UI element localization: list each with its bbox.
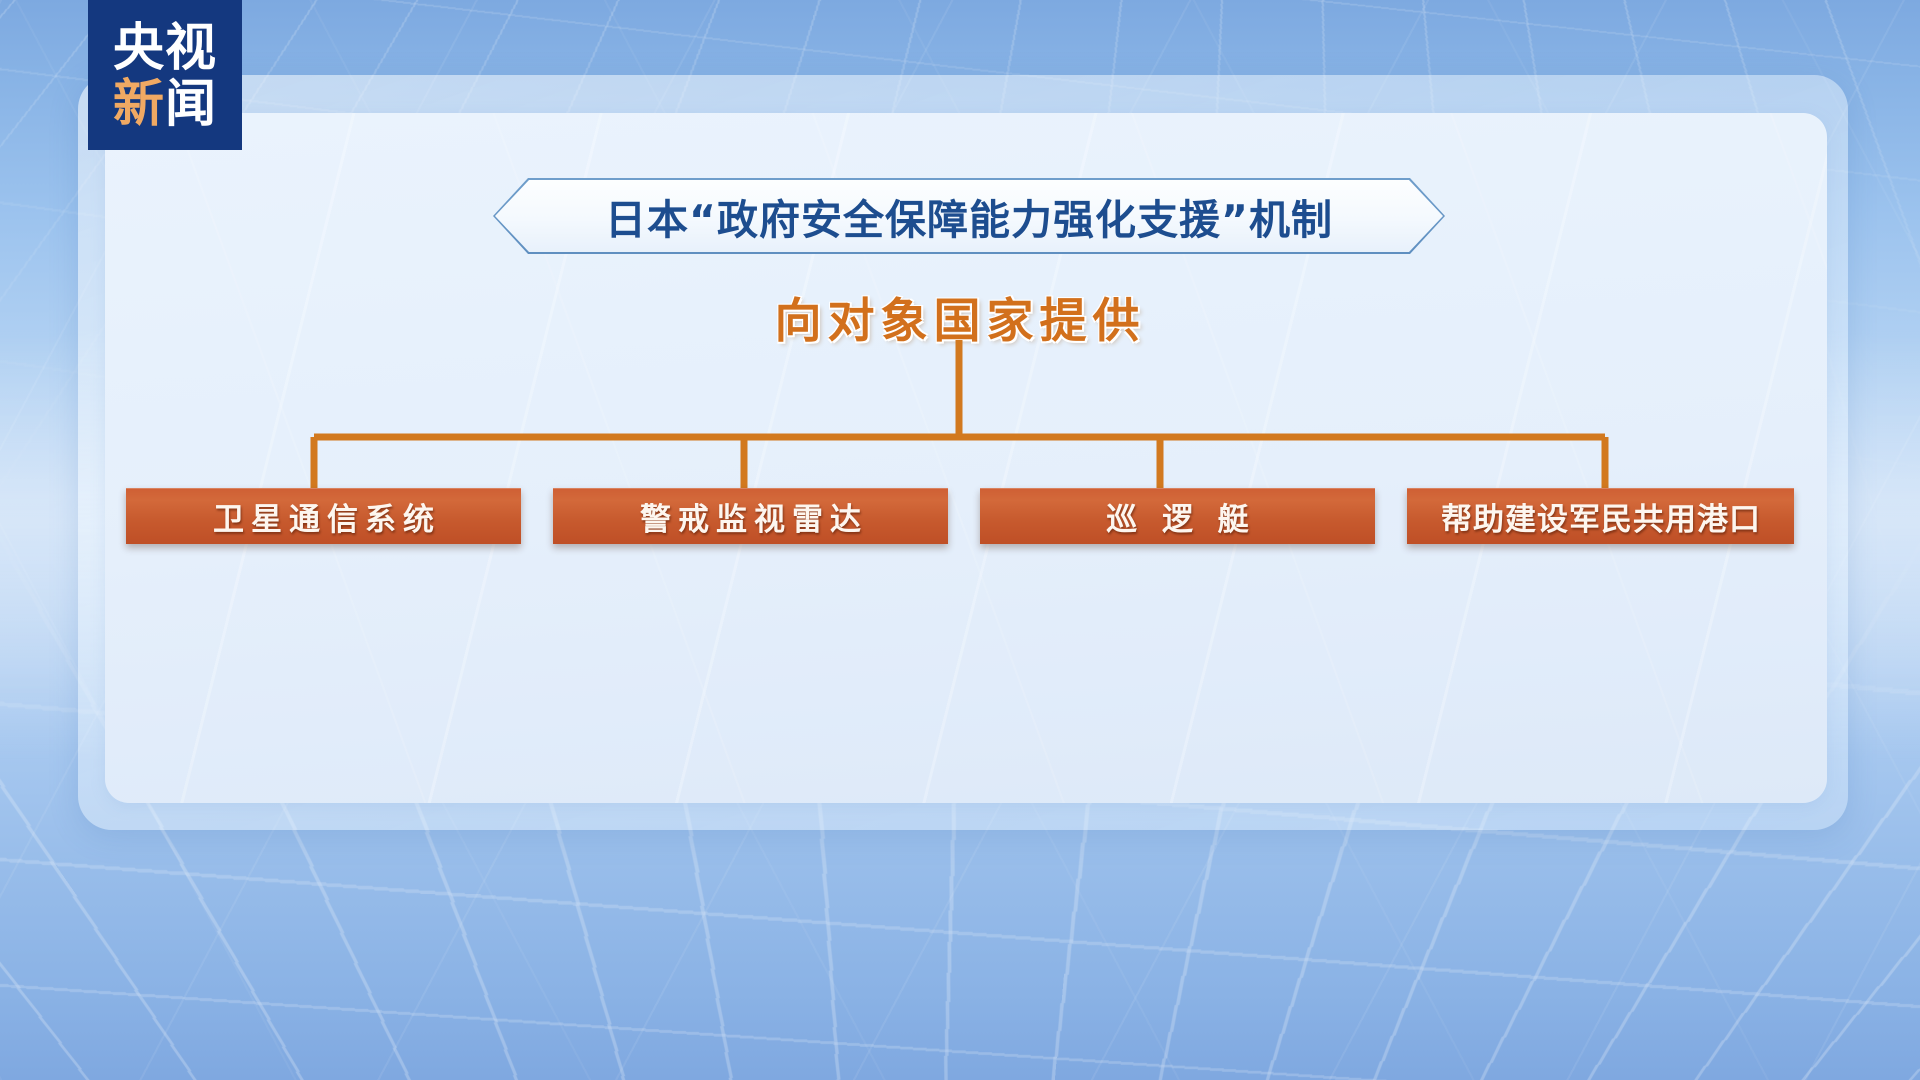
node-box-row: 卫星通信系统 警戒监视雷达 巡 逻 艇 帮助建设军民共用港口 <box>126 488 1794 544</box>
node-label: 卫星通信系统 <box>206 494 441 539</box>
title-banner: 日本“政府安全保障能力强化支援”机制 <box>495 180 1443 252</box>
logo-char-wen: 闻 <box>165 75 217 134</box>
infographic-stage: 央视 新闻 日本“政府安全保障能力强化支援”机制 向对象国家提供 <box>0 0 1920 1080</box>
infographic-content: 日本“政府安全保障能力强化支援”机制 向对象国家提供 卫星通信系统 <box>0 0 1920 1080</box>
node-satellite-comm-system[interactable]: 卫星通信系统 <box>126 488 521 544</box>
node-dual-use-port[interactable]: 帮助建设军民共用港口 <box>1407 488 1794 544</box>
node-label: 巡 逻 艇 <box>1099 494 1256 539</box>
logo-line-xinwen: 新闻 <box>113 78 217 132</box>
logo-char-xin: 新 <box>113 75 165 134</box>
page-title: 日本“政府安全保障能力强化支援”机制 <box>605 186 1333 246</box>
node-label: 帮助建设军民共用港口 <box>1440 494 1761 539</box>
logo-line-yangshi: 央视 <box>113 22 217 76</box>
node-label: 警戒监视雷达 <box>633 494 868 539</box>
subtitle-text: 向对象国家提供 <box>0 282 1920 351</box>
node-surveillance-radar[interactable]: 警戒监视雷达 <box>553 488 948 544</box>
node-patrol-boat[interactable]: 巡 逻 艇 <box>980 488 1375 544</box>
cctv-news-logo: 央视 新闻 <box>88 0 242 150</box>
